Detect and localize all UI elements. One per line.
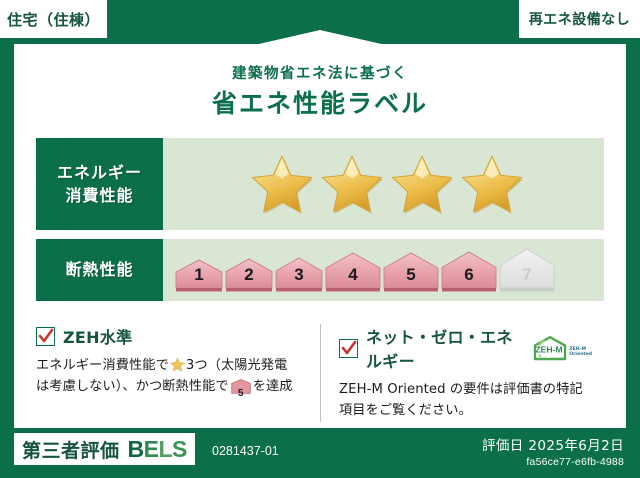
bels-letter-l: L [158, 436, 172, 462]
star-icon [391, 154, 453, 214]
nzeb-criterion-text: ZEH-M Oriented の要件は評価書の特記 項目をご覧ください。 [339, 379, 592, 422]
label-footer: 第三者評価 BELS 0281437-01 評価日 2025年6月2日 fa56… [0, 428, 640, 478]
zeh-criterion: ZEH水準 エネルギー消費性能で3つ（太陽光発電 は考慮しない）、かつ断熱性能で… [36, 324, 320, 422]
zeh-text-part1: エネルギー消費性能で [36, 358, 169, 373]
svg-text:ZEH-M: ZEH-M [536, 345, 563, 355]
insulation-performance-label: 断熱性能 [36, 239, 163, 301]
house-badge-value: 7 [499, 265, 555, 285]
renewable-energy-tag: 再エネ設備なし [519, 0, 640, 38]
zeh-text-part2: は考慮しない）、かつ断熱性能で [36, 379, 229, 394]
bels-plate: 第三者評価 BELS [14, 433, 195, 465]
star-icon [321, 154, 383, 214]
house-badge: 1 [175, 259, 223, 292]
evaluation-info: 評価日 2025年6月2日 fa56ce77-e6fb-4988 [482, 434, 624, 468]
check-icon [341, 340, 357, 357]
building-type-label: 住宅（住棟） [7, 9, 100, 30]
zeh-m-logo: ZEH-M ZEH-M Oriented [532, 335, 592, 361]
star-icon [461, 154, 523, 214]
nzeb-criterion-header: ネット・ゼロ・エネルギー ZEH-M ZEH-M Oriented [339, 324, 592, 372]
evaluation-date: 評価日 2025年6月2日 [482, 434, 624, 454]
zeh-m-sub-line2: Oriented [569, 353, 592, 358]
energy-label-line1: エネルギー [57, 161, 142, 184]
house-badge: 2 [225, 258, 273, 292]
criteria-section: ZEH水準 エネルギー消費性能で3つ（太陽光発電 は考慮しない）、かつ断熱性能で… [36, 324, 604, 422]
nzeb-text-line1: ZEH-M Oriented の要件は評価書の特記 [339, 382, 583, 397]
renewable-energy-label: 再エネ設備なし [529, 9, 631, 29]
building-type-tag: 住宅（住棟） [0, 0, 107, 38]
house-badge: 4 [325, 252, 381, 292]
energy-label-card: 住宅（住棟） 再エネ設備なし 建築物省エネ法に基づく 省エネ性能ラベル エネルギ… [0, 0, 640, 478]
nzeb-criterion-title: ネット・ゼロ・エネルギー [366, 324, 520, 372]
energy-performance-row: エネルギー 消費性能 [36, 138, 604, 230]
nzeb-criterion: ネット・ゼロ・エネルギー ZEH-M ZEH-M Oriented [320, 324, 604, 422]
zeh-text-part3: を達成 [253, 379, 293, 394]
house-badge: 5 [383, 252, 439, 292]
page-title: 省エネ性能ラベル [14, 84, 626, 120]
house-badge-value: 6 [441, 265, 497, 285]
check-icon [38, 328, 54, 345]
zeh-criterion-header: ZEH水準 [36, 324, 308, 348]
bels-logo: BELS [128, 436, 187, 463]
insulation-scale: 1234567 [163, 239, 604, 301]
house-badge-value: 1 [175, 265, 223, 285]
inline-house-value: 5 [231, 386, 251, 402]
energy-label-line2: 消費性能 [65, 184, 133, 207]
bels-letter-b: B [128, 436, 144, 462]
house-badge-value: 3 [275, 265, 323, 285]
third-party-eval-label: 第三者評価 [22, 436, 120, 463]
house-badge-value: 2 [225, 265, 273, 285]
house-badge-value: 4 [325, 265, 381, 285]
zeh-text-starcount: 3つ（太陽光発電 [186, 358, 288, 373]
label-subtitle: 建築物省エネ法に基づく [14, 62, 626, 83]
house-badge-list: 1234567 [175, 248, 555, 292]
bels-registration-id: 0281437-01 [212, 444, 279, 458]
label-body: 建築物省エネ法に基づく 省エネ性能ラベル エネルギー 消費性能 断熱性能 123… [14, 44, 626, 428]
insulation-performance-row: 断熱性能 1234567 [36, 239, 604, 301]
star-rating [163, 138, 604, 230]
zeh-checkbox[interactable] [36, 327, 55, 346]
zeh-m-house-icon: ZEH-M [532, 335, 568, 361]
bels-letter-s: S [172, 436, 187, 462]
inline-star-icon [170, 357, 185, 372]
inline-house-badge: 5 [231, 379, 251, 401]
performance-rows: エネルギー 消費性能 断熱性能 1234567 [36, 138, 604, 310]
star-icon [251, 154, 313, 214]
house-badge: 7 [499, 248, 555, 292]
evaluation-uuid: fa56ce77-e6fb-4988 [482, 456, 624, 468]
insulation-label-line1: 断熱性能 [65, 258, 133, 281]
house-badge-value: 5 [383, 265, 439, 285]
zeh-criterion-title: ZEH水準 [63, 324, 132, 348]
bels-letter-e: E [144, 436, 159, 462]
house-badge: 3 [275, 257, 323, 292]
nzeb-text-line2: 項目をご覧ください。 [339, 403, 472, 418]
energy-performance-label: エネルギー 消費性能 [36, 138, 163, 230]
house-badge: 6 [441, 251, 497, 292]
nzeb-checkbox[interactable] [339, 339, 358, 358]
zeh-criterion-text: エネルギー消費性能で3つ（太陽光発電 は考慮しない）、かつ断熱性能で5を達成 [36, 355, 308, 402]
